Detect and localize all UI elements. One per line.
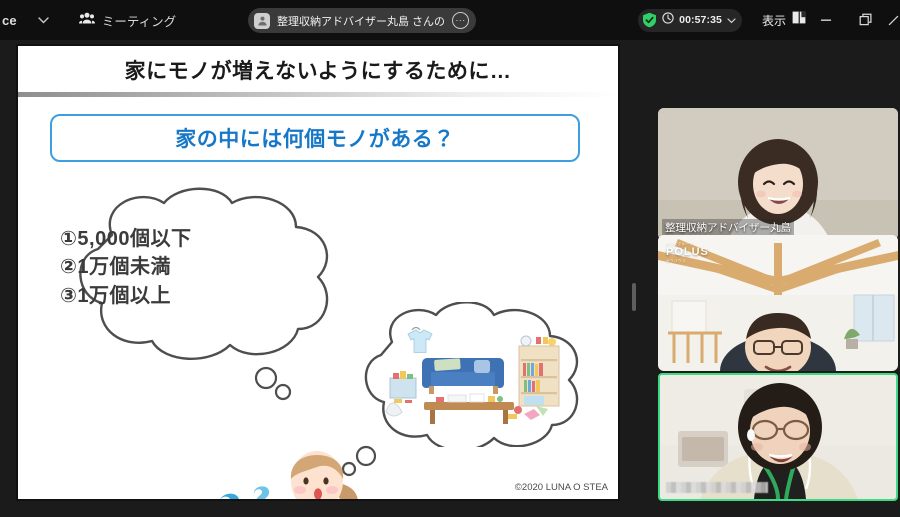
meeting-timer: 00:57:35 (679, 14, 722, 26)
thought-cloud-room (348, 302, 598, 447)
title-bar-right: 00:57:35 表示 (638, 0, 900, 40)
shared-content-chip[interactable]: 整理収納アドバイザー丸島 さんの ··· (248, 8, 476, 33)
bookshelf-illustration (519, 336, 559, 406)
clock-icon (662, 11, 674, 29)
shared-content-title: 整理収納アドバイザー丸島 さんの (277, 13, 445, 29)
title-bar-left: ce ミーティング (0, 7, 176, 33)
slide-option-2: ②1万個未満 (60, 253, 191, 281)
restore-window-icon[interactable] (846, 0, 886, 40)
more-options-label: ··· (455, 16, 466, 25)
participant-video-panel: 整理収納アドバイザー丸島 (644, 40, 900, 517)
app-name-label: ce (0, 13, 17, 28)
slide-title: 家にモノが増えないようにするために… (18, 46, 618, 92)
video-tile-name-blurred (666, 482, 768, 493)
slide-option-1: ①5,000個以下 (60, 225, 191, 253)
thought-cloud-tail-left (253, 365, 303, 410)
meeting-timer-pill[interactable]: 00:57:35 (638, 9, 742, 32)
video-tile[interactable] (658, 373, 898, 501)
close-icon[interactable] (886, 0, 900, 40)
drag-handle-icon[interactable] (632, 283, 636, 311)
title-bar: ce ミーティング (0, 0, 900, 40)
slide-options-list: ①5,000個以下 ②1万個未満 ③1万個以上 (60, 225, 191, 310)
minimize-icon[interactable] (806, 0, 846, 40)
shared-slide[interactable]: 家にモノが増えないようにするために… 家の中には何個モノがある？ ①5,000個… (16, 44, 620, 501)
meeting-indicator[interactable]: ミーティング (79, 11, 176, 30)
polus-watermark-main: POLUS (666, 246, 709, 258)
polus-watermark-bottom: ポウハウス (666, 258, 709, 263)
meeting-label: ミーティング (102, 11, 176, 30)
toybox-illustration (390, 371, 416, 403)
slide-option-3: ③1万個以上 (60, 282, 191, 310)
more-options-icon[interactable]: ··· (452, 12, 469, 29)
people-icon (79, 11, 95, 29)
display-view-button[interactable]: 表示 (762, 11, 806, 29)
girl-character-illustration (268, 435, 372, 501)
polus-watermark: ポラスグループ POLUS ポウハウス (666, 241, 709, 263)
display-view-label: 表示 (762, 12, 786, 29)
slide-copyright: ©2020 LUNA O STEA (515, 482, 608, 493)
layout-view-icon (792, 11, 806, 29)
slide-question-box: 家の中には何個モノがある？ (50, 114, 580, 162)
slide-body: 家の中には何個モノがある？ ①5,000個以下 ②1万個未満 ③1万個以上 (18, 97, 618, 499)
shield-check-icon (642, 12, 657, 28)
video-tile-name: 整理収納アドバイザー丸島 (662, 219, 794, 236)
chevron-down-icon[interactable] (31, 7, 57, 33)
meeting-window: ce ミーティング (0, 0, 900, 517)
video-tile[interactable]: 整理収納アドバイザー丸島 (658, 108, 898, 240)
meeting-stage: 家にモノが増えないようにするために… 家の中には何個モノがある？ ①5,000個… (0, 40, 900, 517)
slide-question-text: 家の中には何個モノがある？ (175, 123, 455, 153)
chevron-down-icon[interactable] (727, 11, 736, 29)
video-tile[interactable]: ポラスグループ POLUS ポウハウス (658, 235, 898, 371)
presenter-avatar-icon (254, 13, 270, 29)
panel-divider[interactable] (630, 40, 638, 517)
